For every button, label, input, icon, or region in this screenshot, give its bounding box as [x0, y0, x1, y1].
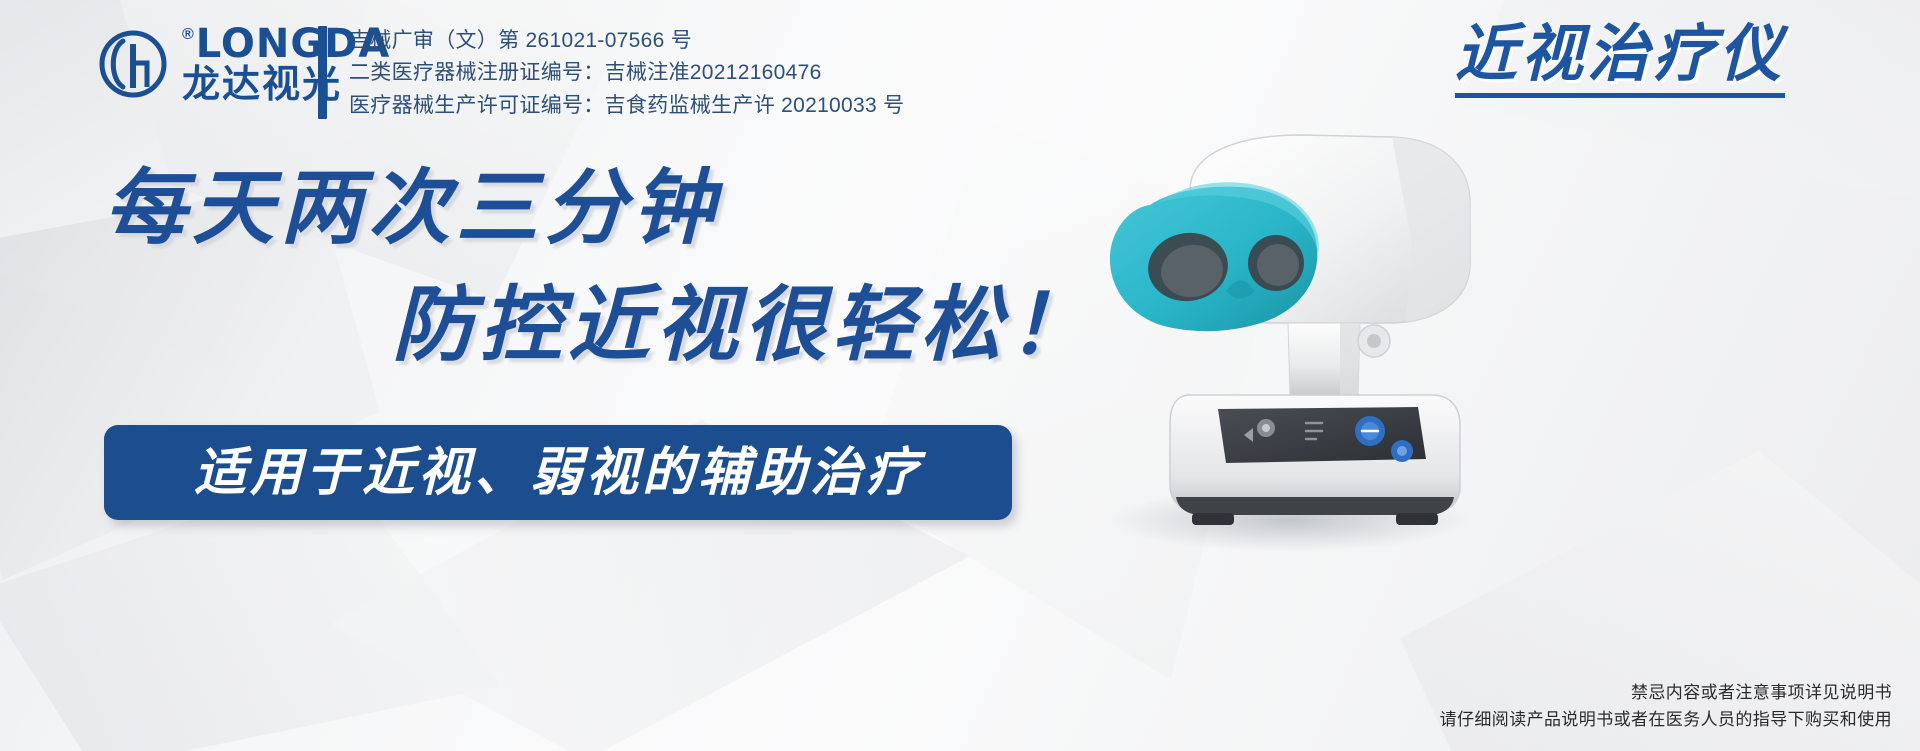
regulatory-line: 医疗器械生产许可证编号：吉食药监械生产许 20210033 号: [349, 93, 904, 119]
indication-banner-box: 适用于近视、弱视的辅助治疗: [104, 425, 1012, 520]
myopia-treatment-device-image: [1040, 95, 1560, 565]
vertical-divider: [318, 26, 327, 119]
regulatory-line: 吉械广审（文）第 261021-07566 号: [349, 28, 904, 54]
headline-line-2: 防控近视很轻松！: [392, 285, 1096, 367]
regulatory-line: 二类医疗器械注册证编号：吉械注准20212160476: [349, 60, 904, 86]
advertisement-banner: ® LONGDA 龙达视光 吉械广审（文）第 261021-07566 号 二类…: [0, 0, 1920, 751]
disclaimer-block: 禁忌内容或者注意事项详见说明书 请仔细阅读产品说明书或者在医务人员的指导下购买和…: [1440, 680, 1892, 733]
registered-trademark-icon: ®: [182, 26, 194, 44]
regulatory-info-block: 吉械广审（文）第 261021-07566 号 二类医疗器械注册证编号：吉械注准…: [318, 26, 904, 119]
product-title: 近视治疗仪: [1455, 22, 1785, 98]
background-base: [0, 0, 1920, 751]
product-title-text: 近视治疗仪: [1455, 22, 1785, 87]
headline-line-1: 每天两次三分钟: [104, 168, 720, 250]
longda-circle-mark-icon: [96, 27, 170, 101]
disclaimer-line: 请仔细阅读产品说明书或者在医务人员的指导下购买和使用: [1440, 707, 1892, 733]
indication-text: 适用于近视、弱视的辅助治疗: [194, 447, 922, 499]
disclaimer-line: 禁忌内容或者注意事项详见说明书: [1440, 680, 1892, 706]
